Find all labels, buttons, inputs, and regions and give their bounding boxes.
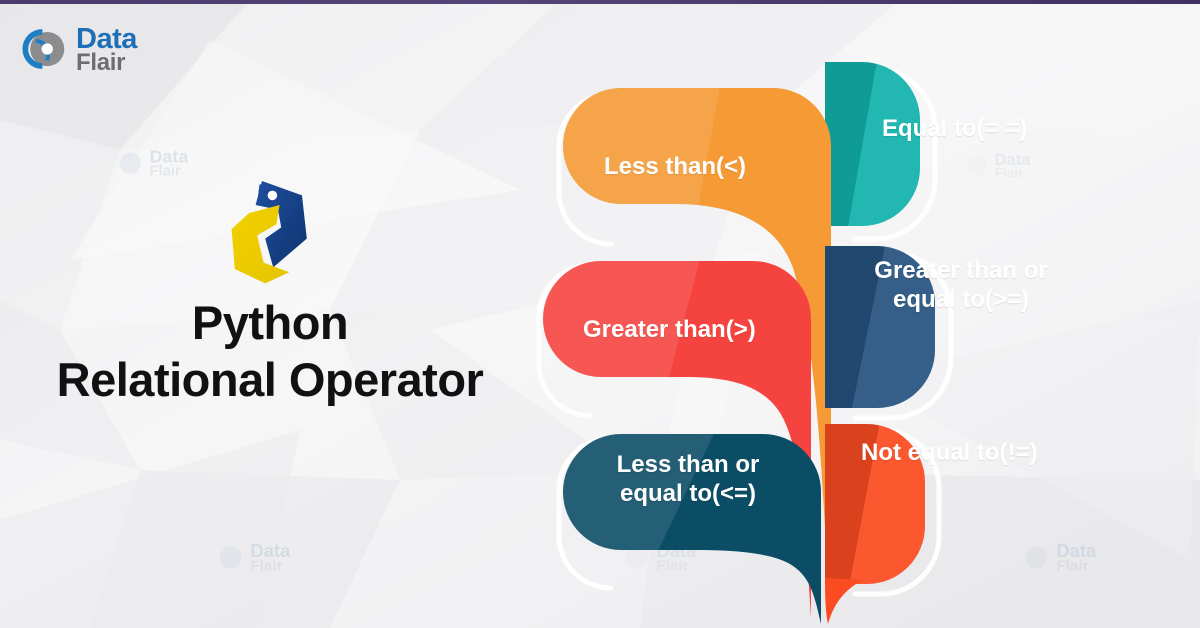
bubble-label-less-than: Less than(<)	[604, 152, 746, 181]
bubble-label-greater-than: Greater than(>)	[583, 315, 756, 344]
bubble-label-equal-to: Equal to(= =)	[882, 114, 1027, 143]
page-title: Python Relational Operator	[57, 294, 484, 409]
hero-block: Python Relational Operator	[0, 178, 540, 409]
brand-name-line2: Flair	[76, 52, 137, 74]
watermark-line1: Data	[250, 542, 290, 559]
dataflair-watermark: DataFlair	[212, 540, 290, 575]
brand-name-line1: Data	[76, 26, 137, 53]
python-hexagon-logo-icon	[222, 178, 318, 288]
dataflair-watermark: DataFlair	[112, 146, 188, 180]
watermark-line2: Flair	[250, 559, 290, 573]
dataflair-logo-icon	[18, 23, 70, 75]
poster-canvas: DataFlair DataFlair DataFlair DataFlair …	[0, 0, 1200, 628]
dataflair-brand-logo: Data Flair	[18, 18, 178, 80]
bubble-equal-to	[825, 62, 920, 226]
bubble-label-not-equal-to: Not equal to(!=)	[861, 438, 1038, 467]
top-accent-rule	[0, 0, 1200, 4]
bubble-label-greater-or-equal: Greater than or equal to(>=)	[866, 256, 1056, 315]
bubble-label-less-or-equal: Less than or equal to(<=)	[602, 450, 774, 509]
watermark-line2: Flair	[149, 165, 188, 178]
watermark-line1: Data	[149, 148, 188, 164]
